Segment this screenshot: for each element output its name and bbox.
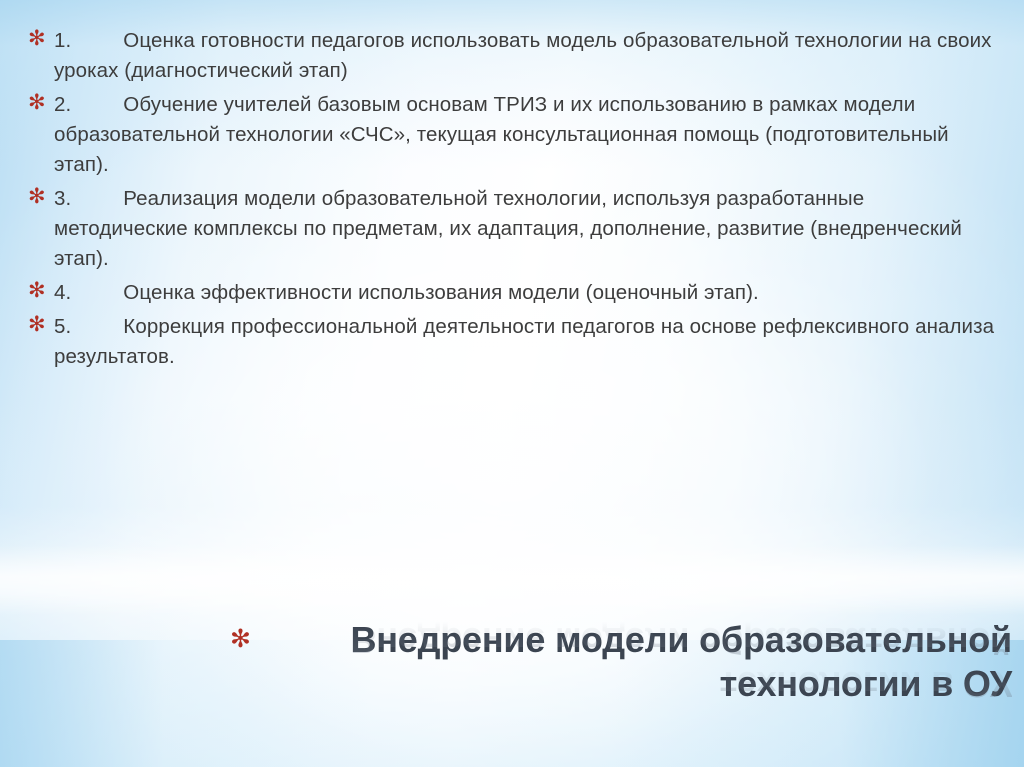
list-item-number: 2.	[54, 93, 71, 116]
list-item-text: Оценка готовности педагогов использовать…	[54, 29, 992, 82]
asterisk-bullet-icon: ✻	[28, 275, 46, 305]
slide-background-band	[0, 545, 1024, 615]
asterisk-bullet-icon: ✻	[28, 23, 46, 53]
slide-title-line-1-text: Внедрение модели образовательной	[350, 619, 1012, 660]
slide-title: ✻ Внедрение модели образовательной Внедр…	[222, 618, 1012, 706]
bullet-list: ✻ 1.Оценка готовности педагогов использо…	[28, 26, 1000, 376]
slide-title-lines: Внедрение модели образовательной Внедрен…	[264, 618, 1012, 706]
asterisk-bullet-icon: ✻	[28, 309, 46, 339]
list-item: ✻ 5.Коррекция профессиональной деятельно…	[28, 312, 1000, 372]
list-item-text: Оценка эффективности использования модел…	[123, 281, 759, 304]
list-item-text: Обучение учителей базовым основам ТРИЗ и…	[54, 93, 949, 176]
asterisk-bullet-icon: ✻	[28, 87, 46, 117]
slide-title-line-2: технологии в ОУ технологии в ОУ	[264, 662, 1012, 706]
list-item-number: 1.	[54, 29, 71, 52]
list-item: ✻ 3.Реализация модели образовательной те…	[28, 184, 1000, 274]
list-item: ✻ 1.Оценка готовности педагогов использо…	[28, 26, 1000, 86]
list-item: ✻ 4.Оценка эффективности использования м…	[28, 278, 1000, 308]
list-item-number: 4.	[54, 281, 71, 304]
list-item-text: Коррекция профессиональной деятельности …	[54, 315, 994, 368]
slide-title-line-2-text: технологии в ОУ	[720, 663, 1012, 704]
list-item-number: 3.	[54, 187, 71, 210]
asterisk-bullet-icon: ✻	[28, 181, 46, 211]
presentation-slide: ✻ 1.Оценка готовности педагогов использо…	[0, 0, 1024, 767]
list-item-text: Реализация модели образовательной технол…	[54, 187, 962, 270]
slide-title-line-1: Внедрение модели образовательной Внедрен…	[264, 618, 1012, 662]
list-item: ✻ 2.Обучение учителей базовым основам ТР…	[28, 90, 1000, 180]
asterisk-bullet-icon: ✻	[230, 626, 251, 651]
list-item-number: 5.	[54, 315, 71, 338]
